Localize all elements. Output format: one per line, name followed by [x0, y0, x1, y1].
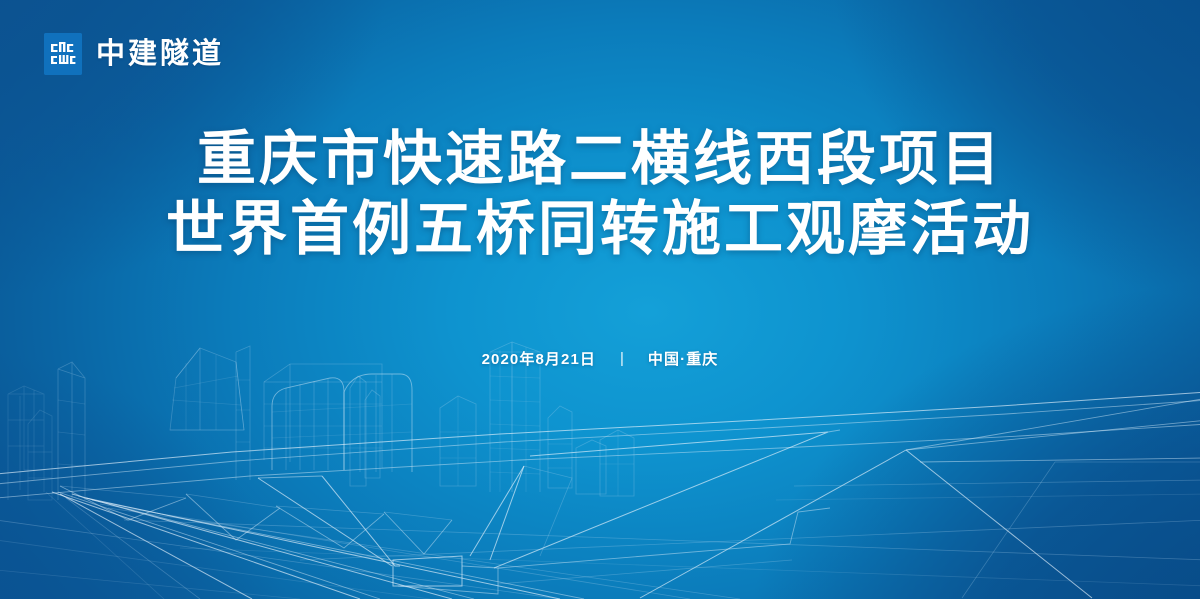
brand-wordmark: 中建隧道: [96, 40, 224, 69]
meta-separator: |: [620, 351, 624, 366]
brand-logo: 中建隧道: [44, 33, 224, 75]
title-line-2: 世界首例五桥同转施工观摩活动: [0, 194, 1200, 264]
event-banner: 中建隧道 重庆市快速路二横线西段项目 世界首例五桥同转施工观摩活动 2020年8…: [0, 0, 1200, 599]
cscec-logo-mark-icon: [44, 33, 82, 75]
banner-meta: 2020年8月21日 | 中国·重庆: [0, 348, 1200, 369]
title-line-1: 重庆市快速路二横线西段项目: [0, 124, 1200, 194]
banner-title: 重庆市快速路二横线西段项目 世界首例五桥同转施工观摩活动: [0, 124, 1200, 264]
event-location: 中国·重庆: [648, 348, 719, 369]
background-corner-bottom-left: [0, 0, 1200, 599]
event-date: 2020年8月21日: [482, 348, 596, 369]
